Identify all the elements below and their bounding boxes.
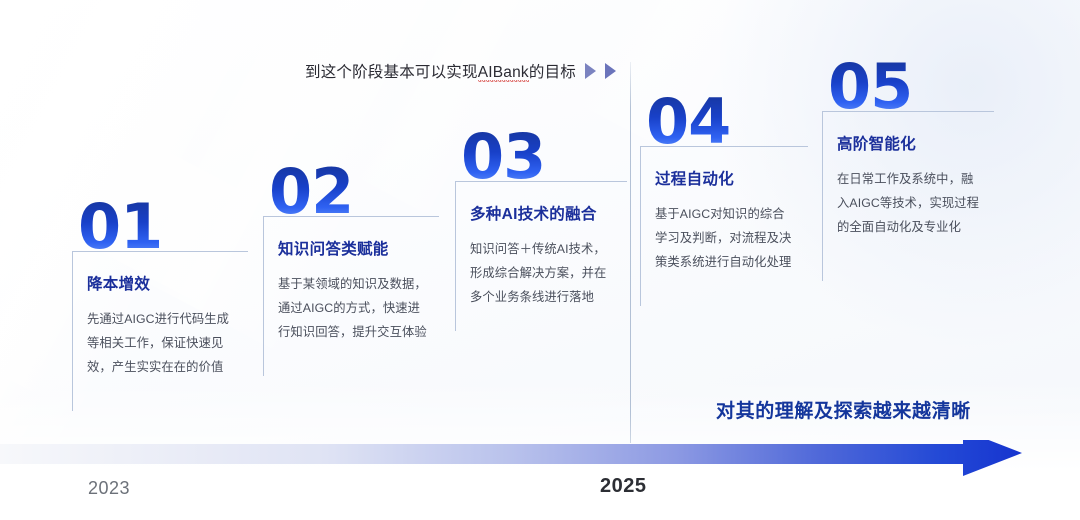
stage-card: 过程自动化 基于AIGC对知识的综合学习及判断，对流程及决策类系统进行自动化处理 [640, 146, 808, 306]
annotation-highlight-term: AIBank [478, 64, 529, 82]
timeline-year-end: 2025 [600, 475, 647, 498]
stage-column-05: 05 高阶智能化 在日常工作及系统中，融入AIGC等技术，实现过程的全面自动化及… [822, 58, 994, 281]
stage-title: 知识问答类赋能 [278, 237, 427, 259]
timeline-arrow [0, 440, 1080, 492]
chevron-right-icon [585, 63, 596, 79]
stage-description: 基于某领域的知识及数据，通过AIGC的方式，快速进行知识回答，提升交互体验 [278, 273, 427, 345]
stage-column-03: 03 多种AI技术的融合 知识问答＋传统AI技术，形成综合解决方案，并在多个业务… [455, 128, 627, 331]
stage-card: 高阶智能化 在日常工作及系统中，融入AIGC等技术，实现过程的全面自动化及专业化 [822, 111, 994, 281]
stage-card: 降本增效 先通过AIGC进行代码生成等相关工作，保证快速见效，产生实实在在的价值 [72, 251, 248, 411]
milestone-annotation: 到这个阶段基本可以实现AIBank的目标 [305, 60, 616, 82]
slide-canvas: 到这个阶段基本可以实现AIBank的目标 01 降本增效 先通过AIGC进行代码… [0, 0, 1080, 520]
stage-card: 知识问答类赋能 基于某领域的知识及数据，通过AIGC的方式，快速进行知识回答，提… [263, 216, 439, 376]
stage-description: 先通过AIGC进行代码生成等相关工作，保证快速见效，产生实实在在的价值 [87, 308, 236, 380]
stage-description: 在日常工作及系统中，融入AIGC等技术，实现过程的全面自动化及专业化 [837, 168, 982, 240]
chevron-right-icon [605, 63, 616, 79]
stage-number: 01 [78, 198, 248, 255]
stage-column-02: 02 知识问答类赋能 基于某领域的知识及数据，通过AIGC的方式，快速进行知识回… [263, 163, 439, 376]
stage-number: 03 [461, 128, 627, 185]
stage-title: 多种AI技术的融合 [470, 202, 615, 224]
stage-number: 05 [828, 58, 994, 115]
year-marker-divider [630, 62, 631, 443]
stage-title: 高阶智能化 [837, 132, 982, 154]
timeline-year-start: 2023 [88, 478, 130, 499]
stage-column-04: 04 过程自动化 基于AIGC对知识的综合学习及判断，对流程及决策类系统进行自动… [640, 93, 808, 306]
stage-column-01: 01 降本增效 先通过AIGC进行代码生成等相关工作，保证快速见效，产生实实在在… [72, 198, 248, 411]
stage-title: 降本增效 [87, 272, 236, 294]
stage-number: 04 [646, 93, 808, 150]
stage-description: 知识问答＋传统AI技术，形成综合解决方案，并在多个业务条线进行落地 [470, 238, 615, 310]
maturity-tagline: 对其的理解及探索越来越清晰 [716, 396, 971, 423]
stage-title: 过程自动化 [655, 167, 796, 189]
stage-card: 多种AI技术的融合 知识问答＋传统AI技术，形成综合解决方案，并在多个业务条线进… [455, 181, 627, 331]
stage-number: 02 [269, 163, 439, 220]
milestone-annotation-text: 到这个阶段基本可以实现AIBank的目标 [305, 60, 576, 82]
timeline-arrow-shape [0, 440, 1022, 476]
stage-description: 基于AIGC对知识的综合学习及判断，对流程及决策类系统进行自动化处理 [655, 203, 796, 275]
